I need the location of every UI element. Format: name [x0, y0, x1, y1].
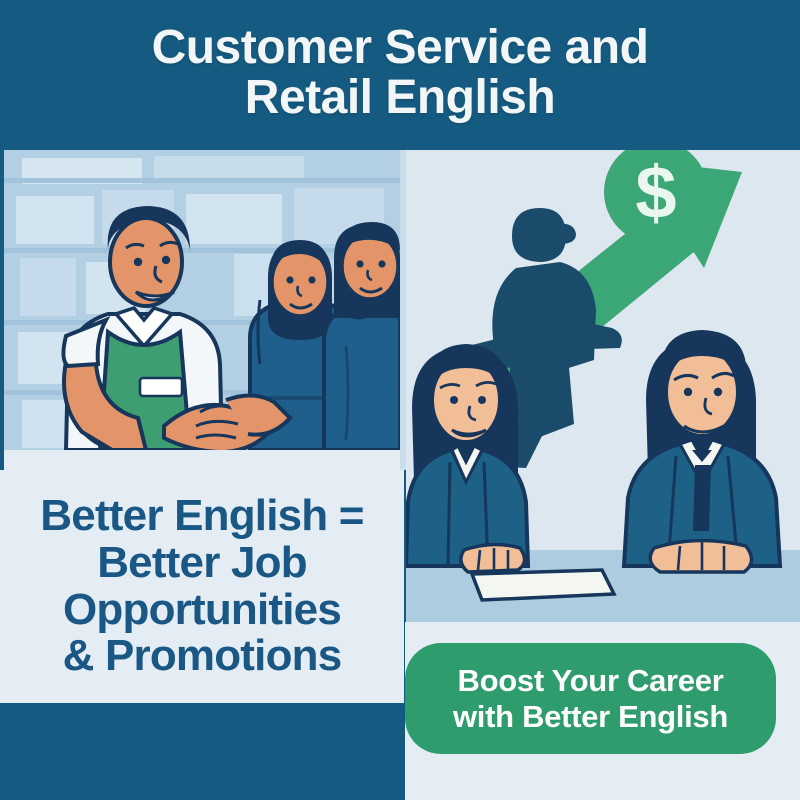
career-scene-svg: $	[406, 150, 800, 622]
cta-label: Boost Your Career with Better English	[453, 663, 728, 734]
boost-career-button[interactable]: Boost Your Career with Better English	[405, 643, 776, 754]
poster-root: Customer Service and Retail English	[0, 0, 800, 800]
headline-line-2: Better Job	[17, 540, 387, 587]
header-banner: Customer Service and Retail English	[0, 0, 800, 148]
cta-line-1: Boost Your Career	[453, 663, 728, 698]
retail-handshake-illustration	[4, 150, 400, 470]
headline-line-1: Better English =	[17, 493, 387, 540]
name-badge-icon	[140, 378, 182, 396]
cta-line-2: with Better English	[453, 699, 728, 734]
retail-scene-svg	[4, 150, 400, 470]
floor-strip	[4, 450, 400, 470]
headline-panel: Better English = Better Job Opportunitie…	[0, 470, 404, 703]
headline-line-4: & Promotions	[17, 633, 387, 680]
page-title-line-1: Customer Service and	[40, 23, 760, 73]
svg-text:$: $	[635, 151, 676, 234]
customer-male-figure	[324, 222, 400, 450]
headline-text: Better English = Better Job Opportunitie…	[17, 493, 387, 680]
page-title-line-2: Retail English	[40, 73, 760, 123]
document-paper-icon	[472, 570, 614, 600]
cta-area: Boost Your Career with Better English	[405, 622, 800, 800]
career-growth-illustration: $	[406, 150, 800, 622]
page-title: Customer Service and Retail English	[40, 23, 760, 123]
headline-line-3: Opportunities	[17, 587, 387, 634]
professional-female-figure	[406, 344, 528, 572]
